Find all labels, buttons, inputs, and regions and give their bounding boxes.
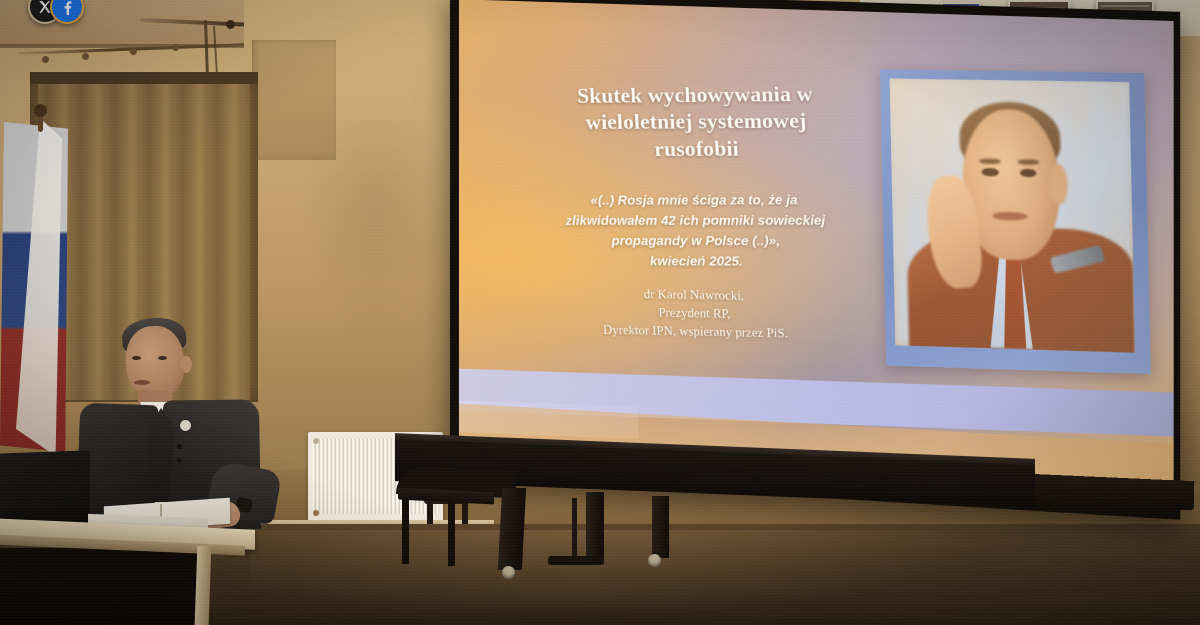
curtain-header — [30, 72, 258, 84]
piano-leg — [652, 496, 669, 558]
slide-title-line: wieloletniej systemowej — [527, 107, 866, 136]
rail-hook — [172, 44, 179, 51]
slide-photo — [890, 79, 1135, 353]
radiator-drain — [313, 510, 319, 516]
piano-leg — [498, 488, 526, 570]
rail-hook — [42, 56, 49, 63]
slide-quote-line: propagandy w Polsce (..)», — [531, 231, 863, 252]
desk-underside — [0, 548, 200, 625]
slide-title: Skutek wychowywania w wieloletniej syste… — [526, 80, 867, 163]
rail-knob — [226, 20, 235, 29]
speaker-mouth — [134, 380, 150, 385]
jacket-button — [177, 458, 182, 463]
speaker-eye — [132, 356, 141, 360]
floor-reflection — [250, 530, 1030, 625]
bench-leg — [402, 498, 409, 564]
piano-pedals — [548, 556, 604, 565]
slide-quote-line: «(..) Rosja mnie ściga za to, że ja — [529, 190, 860, 211]
slide-title-line: rusofobii — [528, 135, 867, 164]
photo-projector-tint — [890, 79, 1135, 353]
bench-leg — [448, 500, 455, 566]
slide-quote: «(..) Rosja mnie ściga za to, że ja zlik… — [529, 190, 863, 273]
slide-photo-frame — [880, 70, 1150, 375]
slide-quote-line: zlikwidowałem 42 ich pomniki sowieckiej — [530, 210, 862, 231]
flagpole-finial — [34, 104, 47, 117]
wall-stain — [300, 120, 450, 350]
slide-quote-line: kwiecień 2025. — [532, 251, 864, 272]
rail-hook — [130, 48, 137, 55]
piano-pedal-rod — [572, 498, 577, 558]
piano-leg — [586, 492, 604, 564]
speaker-eye — [158, 356, 167, 360]
rail-hook — [82, 53, 89, 60]
presentation-slide: Skutek wychowywania w wieloletniej syste… — [459, 0, 1174, 507]
jacket-button — [177, 444, 182, 449]
piano-caster — [502, 566, 515, 579]
slide-attribution: dr Karol Nawrocki, Prezydent RP, Dyrekto… — [534, 284, 859, 344]
lapel-pin-icon — [180, 420, 191, 431]
desk-leg — [195, 546, 212, 625]
speaker-ear — [180, 356, 192, 373]
piano-caster — [648, 554, 661, 567]
radiator-valve — [313, 438, 319, 444]
slide-title-line: Skutek wychowywania w — [526, 80, 865, 110]
conference-photo: Skutek wychowywania w wieloletniej syste… — [0, 0, 1200, 625]
